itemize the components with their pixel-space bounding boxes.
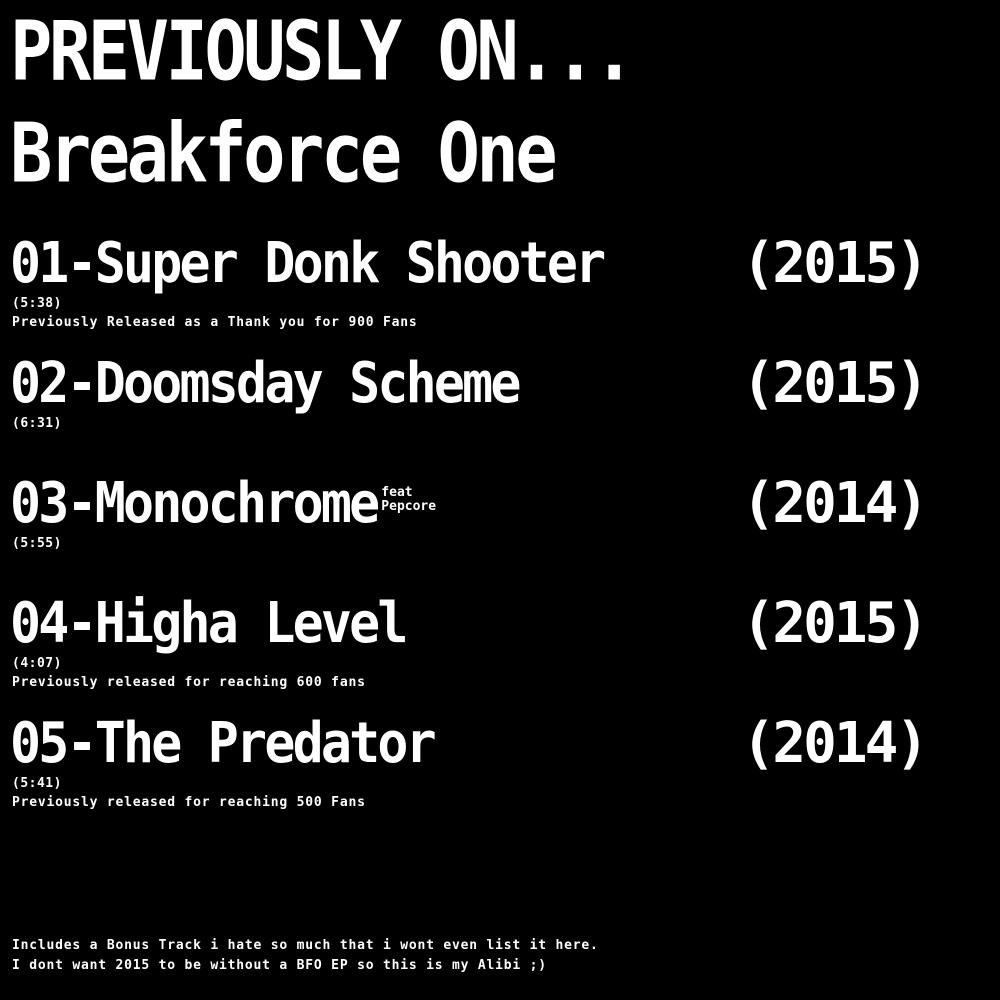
track-row: 01-Super Donk Shooter (2015) (5:38) Prev… (0, 238, 1000, 358)
album-title: PREVIOUSLY ON... (10, 14, 872, 89)
track-main-line: 02-Doomsday Scheme (2015) (0, 358, 1000, 410)
track-main-line: 05-The Predator (2014) (0, 718, 1000, 770)
track-title: 04-Higha Level (10, 598, 406, 650)
track-duration: (4:07) (0, 656, 1000, 671)
track-row: 03-Monochromefeat Pepcore (2014) (5:55) (0, 478, 1000, 598)
track-duration: (5:41) (0, 776, 1000, 791)
track-row: 05-The Predator (2014) (5:41) Previously… (0, 718, 1000, 838)
track-title: 01-Super Donk Shooter (10, 238, 603, 290)
track-main-line: 03-Monochromefeat Pepcore (2014) (0, 478, 1000, 530)
artist-name: Breakforce One (10, 116, 872, 191)
track-year: (2015) (742, 238, 926, 290)
album-tracklist-poster: PREVIOUSLY ON... Breakforce One 01-Super… (0, 0, 1000, 1000)
track-row: 04-Higha Level (2015) (4:07) Previously … (0, 598, 1000, 718)
footer-line-2: I dont want 2015 to be without a BFO EP … (12, 956, 972, 976)
track-feat: feat Pepcore (381, 486, 436, 514)
track-row: 02-Doomsday Scheme (2015) (6:31) (0, 358, 1000, 478)
track-duration: (5:55) (0, 536, 1000, 551)
tracklist: 01-Super Donk Shooter (2015) (5:38) Prev… (0, 238, 1000, 838)
footer-line-1: Includes a Bonus Track i hate so much th… (12, 936, 972, 956)
track-note: Previously released for reaching 600 fan… (0, 675, 1000, 690)
track-year: (2015) (742, 598, 926, 650)
track-duration: (5:38) (0, 296, 1000, 311)
track-year: (2014) (742, 718, 926, 770)
track-year: (2014) (742, 478, 926, 530)
track-duration: (6:31) (0, 416, 1000, 431)
track-year: (2015) (742, 358, 926, 410)
track-title: 05-The Predator (10, 718, 434, 770)
track-main-line: 04-Higha Level (2015) (0, 598, 1000, 650)
track-title: 02-Doomsday Scheme (10, 358, 519, 410)
track-note: Previously Released as a Thank you for 9… (0, 315, 1000, 330)
track-title: 03-Monochrome (10, 478, 377, 530)
track-main-line: 01-Super Donk Shooter (2015) (0, 238, 1000, 290)
track-note: Previously released for reaching 500 Fan… (0, 795, 1000, 810)
poster-header: PREVIOUSLY ON... Breakforce One (10, 14, 990, 189)
poster-footer: Includes a Bonus Track i hate so much th… (12, 936, 972, 976)
